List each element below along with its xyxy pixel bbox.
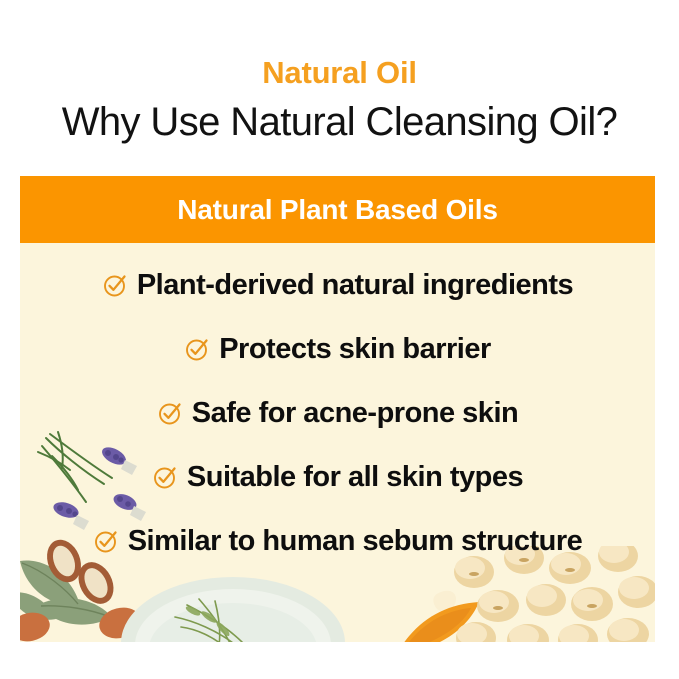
check-circle-icon: [102, 272, 128, 298]
feature-item: Protects skin barrier: [20, 329, 655, 369]
feature-label: Safe for acne-prone skin: [192, 396, 518, 430]
feature-item: Safe for acne-prone skin: [20, 393, 655, 433]
feature-label: Protects skin barrier: [219, 332, 491, 366]
eyebrow-title: Natural Oil: [0, 54, 679, 92]
benefits-card: Natural Plant Based Oils: [20, 176, 655, 642]
heading-block: Natural Oil Why Use Natural Cleansing Oi…: [0, 0, 679, 176]
card-banner: Natural Plant Based Oils: [20, 176, 655, 243]
feature-item: Suitable for all skin types: [20, 457, 655, 497]
check-circle-icon: [93, 528, 119, 554]
feature-label: Similar to human sebum structure: [128, 524, 583, 558]
infographic-poster: Natural Oil Why Use Natural Cleansing Oi…: [0, 0, 679, 679]
feature-label: Suitable for all skin types: [187, 460, 523, 494]
feature-list: Plant-derived natural ingredients Protec…: [20, 243, 655, 642]
feature-label: Plant-derived natural ingredients: [137, 268, 573, 302]
page-title: Why Use Natural Cleansing Oil?: [0, 96, 679, 148]
card-banner-title: Natural Plant Based Oils: [177, 194, 497, 226]
feature-item: Similar to human sebum structure: [20, 521, 655, 561]
check-circle-icon: [152, 464, 178, 490]
check-circle-icon: [184, 336, 210, 362]
feature-item: Plant-derived natural ingredients: [20, 265, 655, 305]
check-circle-icon: [157, 400, 183, 426]
